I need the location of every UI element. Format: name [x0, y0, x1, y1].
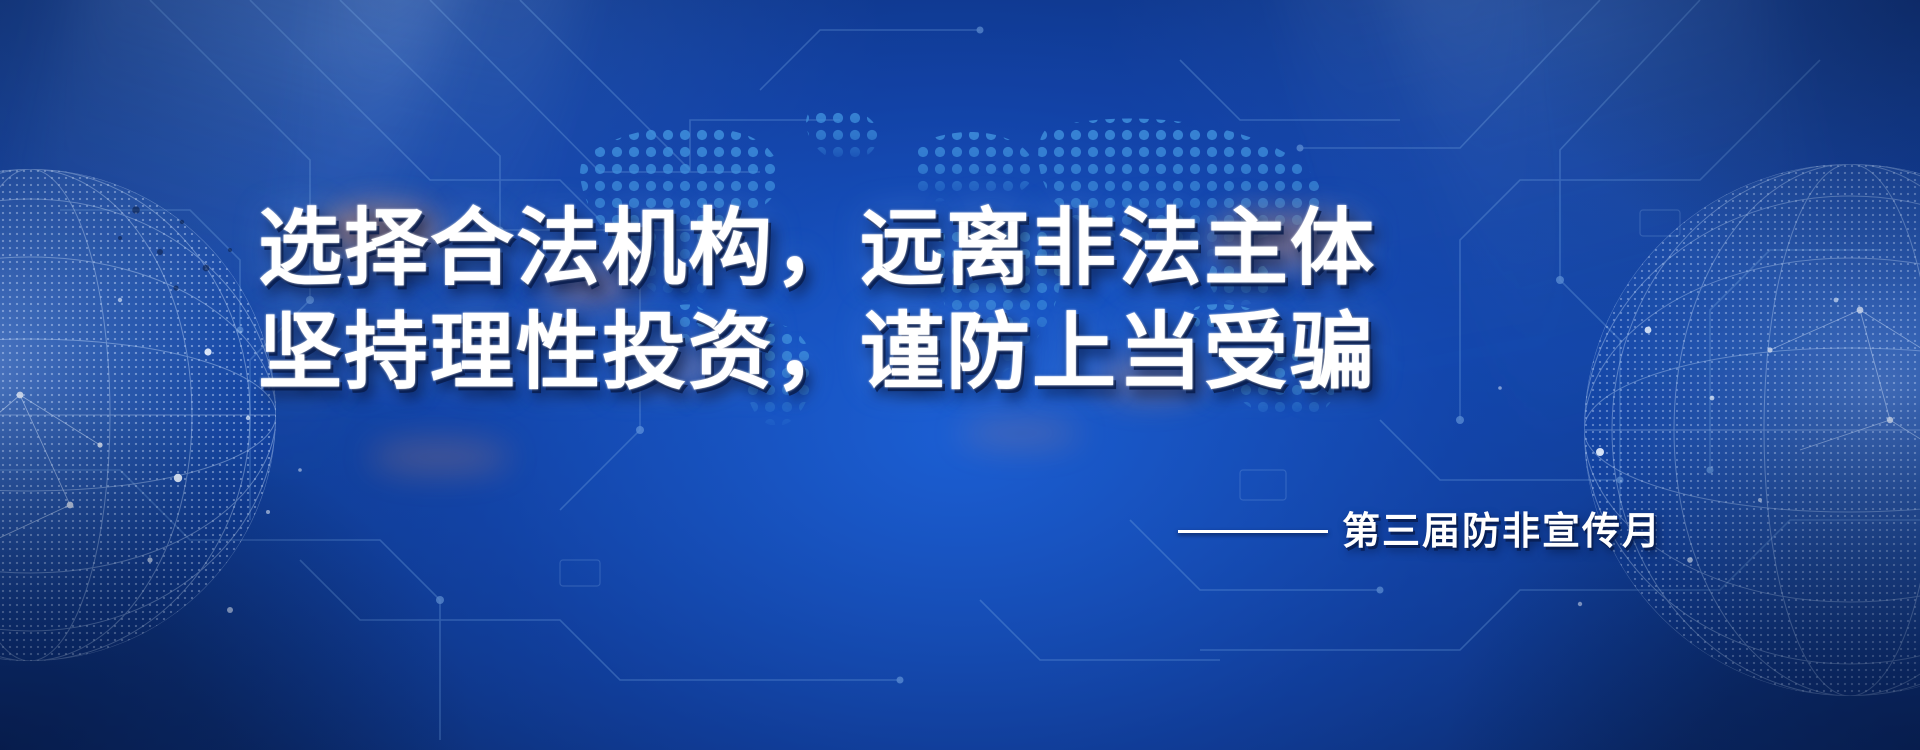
- headline-line-2: 坚持理性投资，谨防上当受骗: [258, 300, 1678, 404]
- subtitle-text: 第三届防非宣传月: [1342, 508, 1662, 554]
- headline-block: 选择合法机构，远离非法主体 坚持理性投资，谨防上当受骗: [258, 196, 1678, 404]
- promo-banner: 选择合法机构，远离非法主体 坚持理性投资，谨防上当受骗 第三届防非宣传月: [0, 0, 1920, 750]
- headline-line-1: 选择合法机构，远离非法主体: [258, 196, 1678, 300]
- banner-content: 选择合法机构，远离非法主体 坚持理性投资，谨防上当受骗 第三届防非宣传月: [0, 0, 1920, 750]
- subtitle-block: 第三届防非宣传月: [1178, 508, 1662, 554]
- subtitle-dash-rule: [1178, 530, 1328, 533]
